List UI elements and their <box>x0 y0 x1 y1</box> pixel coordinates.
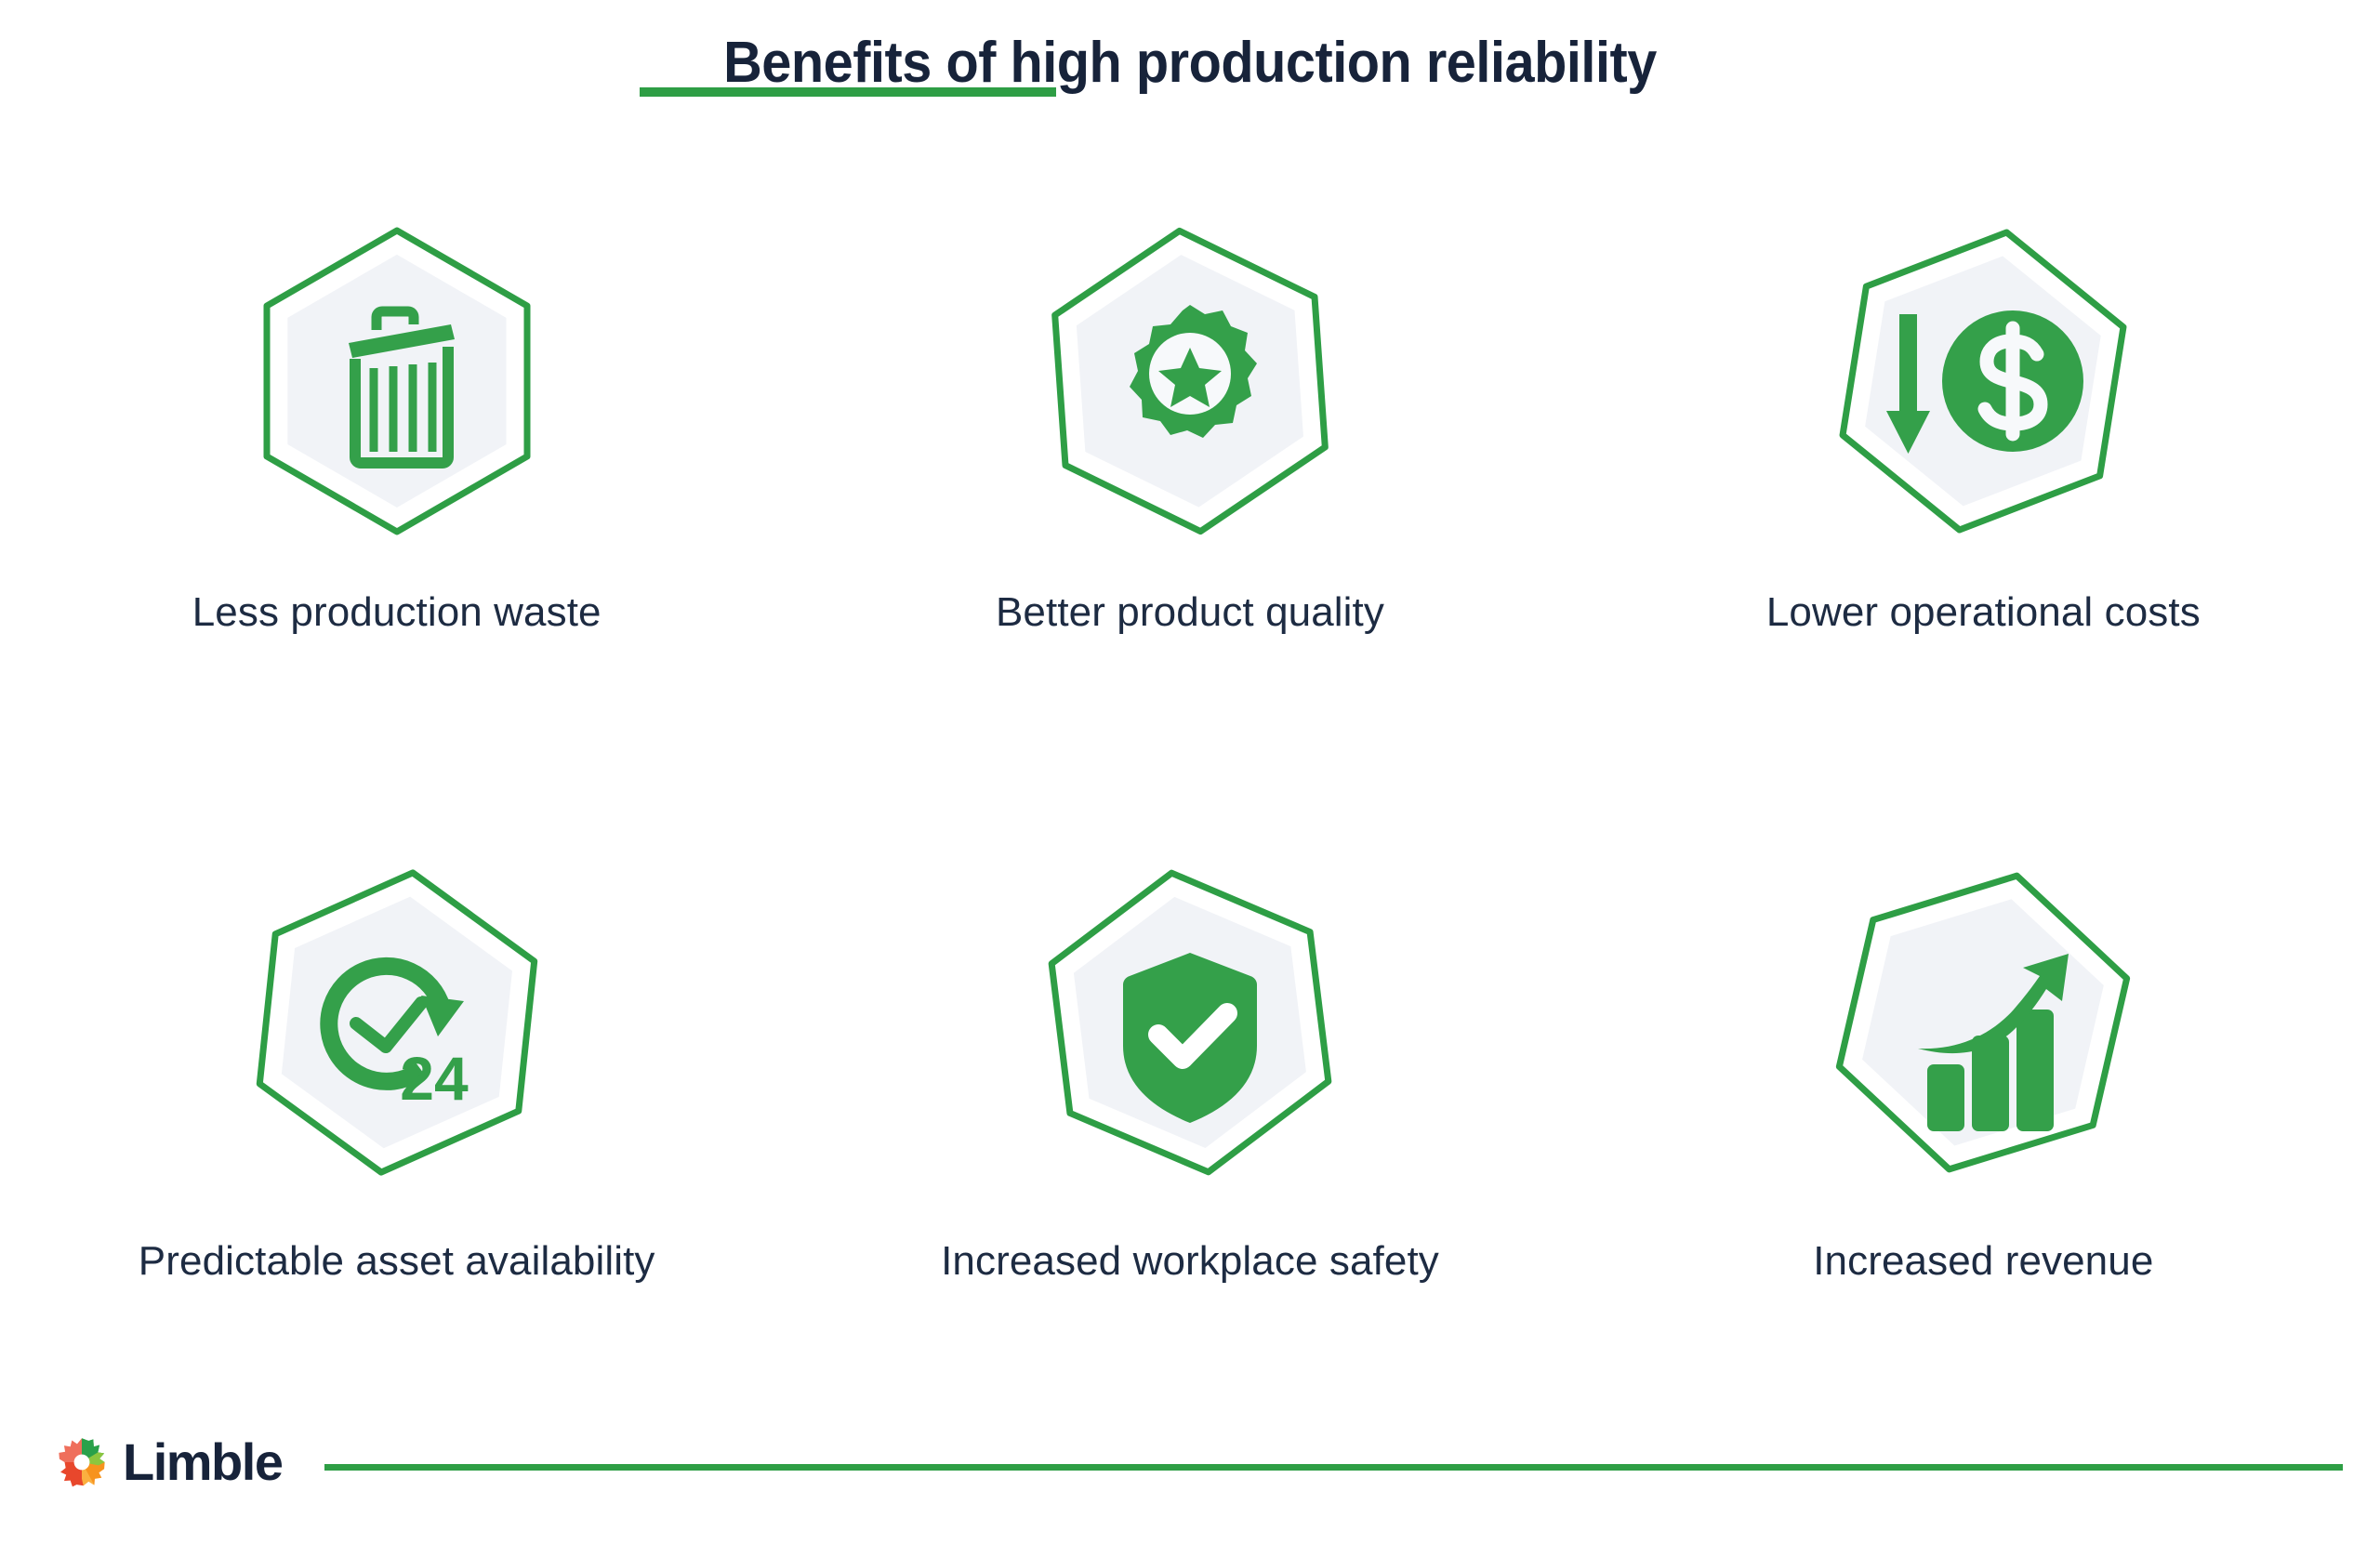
title-block: Benefits of high production reliability <box>0 32 2380 95</box>
benefit-cell-availability: 24 Predictable asset availability <box>0 837 793 1478</box>
hexagon-badge <box>1004 837 1376 1208</box>
benefit-cell-revenue: Increased revenue <box>1587 837 2380 1478</box>
benefit-label: Lower operational costs <box>1766 589 2201 636</box>
hexagon-badge <box>211 195 583 567</box>
benefit-cell-safety: Increased workplace safety <box>793 837 1586 1478</box>
benefit-label: Increased workplace safety <box>941 1238 1439 1285</box>
title-underline <box>640 87 1056 97</box>
hexagon-badge <box>1797 837 2169 1208</box>
infographic-page: Benefits of high production reliability <box>0 0 2380 1544</box>
growth-chart-arrow-icon <box>1797 837 2169 1208</box>
footer: Limble <box>56 1425 2343 1499</box>
limble-wordmark: Limble <box>123 1436 282 1488</box>
cost-down-dollar-icon <box>1797 195 2169 567</box>
footer-rule <box>324 1464 2343 1471</box>
trash-can-icon <box>211 195 583 567</box>
benefit-label: Predictable asset availability <box>139 1238 655 1285</box>
benefit-cell-quality: Better product quality <box>793 195 1586 837</box>
hexagon-badge <box>1004 195 1376 567</box>
quality-badge-star-icon <box>1004 195 1376 567</box>
limble-gear-icon <box>56 1436 108 1488</box>
benefit-cell-waste: Less production waste <box>0 195 793 837</box>
hexagon-badge <box>1797 195 2169 567</box>
benefit-label: Increased revenue <box>1813 1238 2153 1285</box>
limble-logo[interactable]: Limble <box>56 1436 282 1488</box>
clock-24-hour-icon: 24 <box>211 837 583 1208</box>
benefit-label: Less production waste <box>192 589 602 636</box>
benefit-label: Better product quality <box>996 589 1384 636</box>
page-title: Benefits of high production reliability <box>84 32 2297 95</box>
benefit-cell-costs: Lower operational costs <box>1587 195 2380 837</box>
shield-check-icon <box>1004 837 1376 1208</box>
hexagon-badge: 24 <box>211 837 583 1208</box>
benefits-grid: Less production waste Better product <box>0 195 2380 1478</box>
svg-text:24: 24 <box>400 1044 469 1113</box>
